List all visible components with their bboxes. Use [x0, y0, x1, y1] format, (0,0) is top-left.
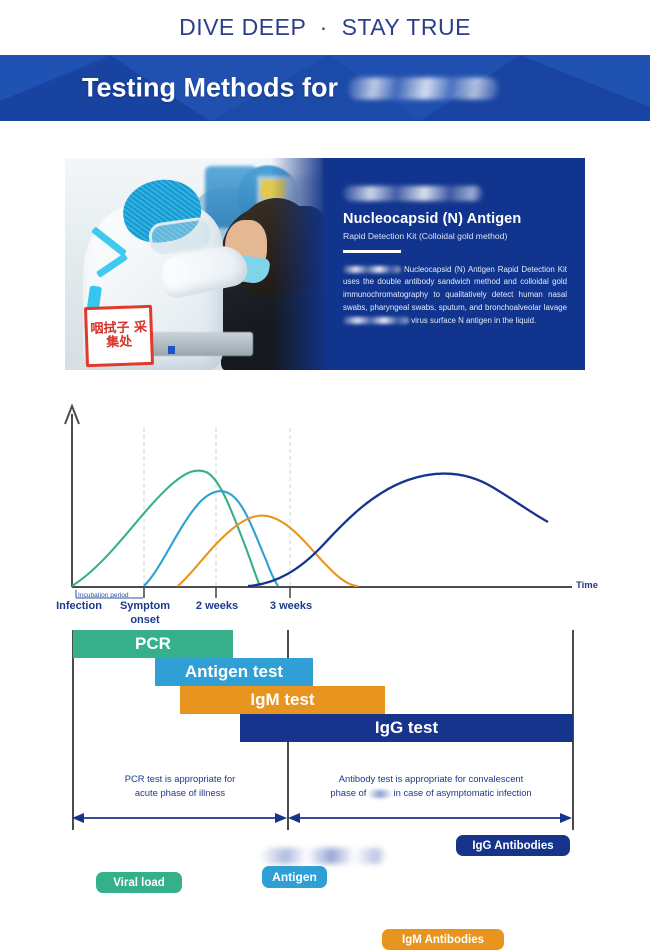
timeline-boundary-left	[72, 630, 74, 830]
timeline-note-redacted-icon	[369, 790, 391, 798]
photo-collection-sign-text: 咽拭子 采集处	[88, 321, 151, 352]
hero-photo: 咽拭子 采集处	[65, 158, 325, 370]
legend-badge-antigen: Antigen	[262, 866, 327, 888]
axis-tick-label-2-weeks: 2 weeks	[180, 600, 254, 612]
description-brand-redacted-icon	[343, 266, 401, 273]
timeline-note-right-line2-a: phase of	[330, 787, 366, 798]
timeline-note-left: PCR test is appropriate for acute phase …	[76, 772, 284, 800]
banner-title-text: Testing Methods for	[82, 73, 338, 104]
panel-divider	[343, 250, 401, 253]
product-title: Nucleocapsid (N) Antigen	[343, 211, 567, 227]
timeline-note-left-line1: PCR test is appropriate for	[76, 772, 284, 786]
page-banner: Testing Methods for	[0, 55, 650, 121]
photo-metal-tray	[149, 332, 253, 356]
product-info-panel: Nucleocapsid (N) Antigen Rapid Detection…	[325, 158, 585, 370]
axis-annotation-incubation-period: Incubation period	[78, 592, 148, 599]
tagline-text: DIVE DEEP · STAY TRUE	[179, 14, 471, 41]
timeline-note-right: Antibody test is appropriate for convale…	[292, 772, 570, 800]
axis-label-time: Time	[576, 580, 598, 591]
hero-section: 咽拭子 采集处 Nucleocapsid (N) Antigen Rapid D…	[65, 158, 585, 370]
product-subtitle: Rapid Detection Kit (Colloidal gold meth…	[343, 231, 567, 241]
timeline-bar-igm-test: IgM test	[180, 686, 385, 714]
product-description-part2: virus surface N antigen in the liquid.	[411, 316, 536, 325]
axis-tick-label-infection: Infection	[40, 600, 118, 612]
arrow-right-head-start	[288, 813, 300, 823]
panel-brand-redacted-icon	[343, 186, 483, 201]
banner-title-group: Testing Methods for	[82, 73, 498, 104]
photo-blue-marker	[168, 346, 175, 354]
axis-tick-label-symptom-onset: Symptom onset	[108, 600, 182, 628]
timeline-note-left-line2: acute phase of illness	[76, 786, 284, 800]
footer-brand-redacted-icon	[262, 848, 386, 864]
photo-gradient-fade	[271, 158, 325, 370]
arrow-right-head-end	[560, 813, 572, 823]
axis-tick-label-3-weeks: 3 weeks	[254, 600, 328, 612]
banner-brand-redacted-icon	[348, 77, 498, 99]
photo-collection-sign: 咽拭子 采集处	[84, 305, 154, 367]
timeline-bar-pcr: PCR	[73, 630, 233, 658]
tagline-bar: DIVE DEEP · STAY TRUE	[0, 0, 650, 55]
arrow-left-head-end	[275, 813, 287, 823]
curve-antigen	[144, 491, 278, 586]
curve-igm-antibodies	[178, 516, 358, 586]
arrow-left-head-start	[72, 813, 84, 823]
legend-badge-igm: IgM Antibodies	[382, 929, 504, 950]
timeline-note-right-line1: Antibody test is appropriate for convale…	[292, 772, 570, 786]
timeline-bar-igg-test: IgG test	[240, 714, 573, 742]
test-timeline-chart: PCR Antigen test IgM test IgG test PCR t…	[0, 630, 650, 840]
banner-bottom-strip	[0, 121, 650, 129]
timeline-bar-antigen-test: Antigen test	[155, 658, 313, 686]
timeline-note-right-line2-b: in case of asymptomatic infection	[394, 787, 532, 798]
product-description: Nucleocapsid (N) Antigen Rapid Detection…	[343, 264, 567, 328]
legend-badge-viral-load: Viral load	[96, 872, 182, 893]
description-virus-redacted-icon	[343, 317, 409, 324]
timeline-note-right-line2: phase of in case of asymptomatic infecti…	[292, 786, 570, 800]
